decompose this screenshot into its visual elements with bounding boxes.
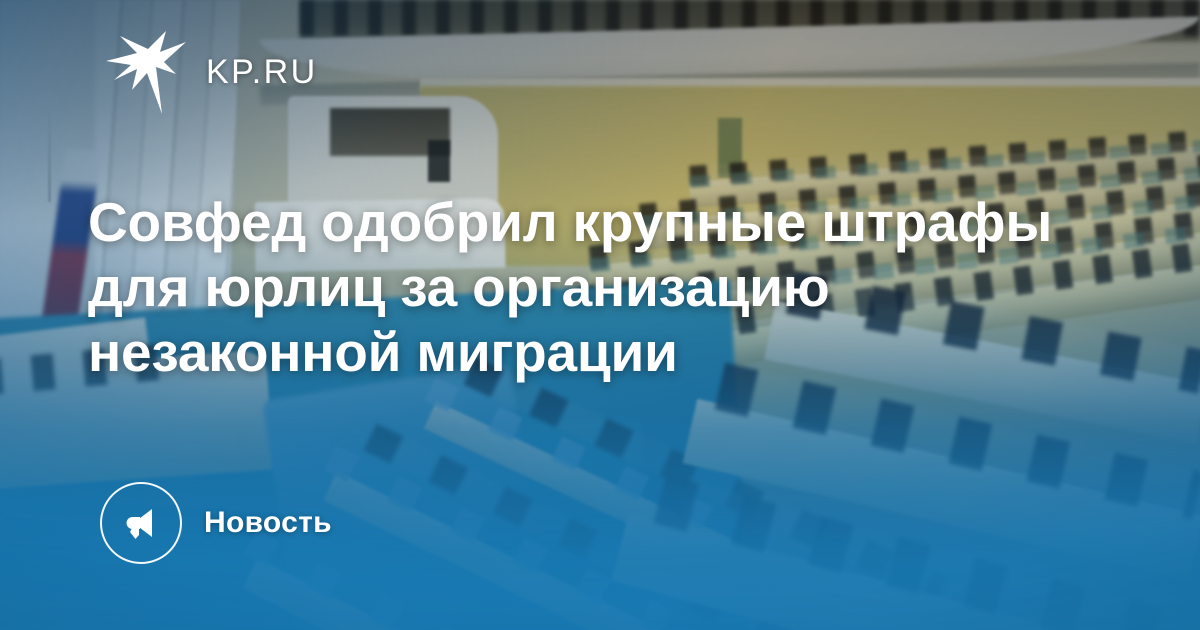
megaphone-icon [119, 501, 163, 545]
badge-circle [100, 482, 182, 564]
status-badge-label: Новость [204, 508, 332, 538]
status-badge[interactable]: Новость [100, 482, 332, 564]
news-share-card: KP.RU Совфед одобрил крупные штрафы для … [0, 0, 1200, 630]
headline-line-3: незаконной миграции [88, 320, 1098, 385]
brand-lockup[interactable]: KP.RU [104, 28, 318, 116]
card-content: KP.RU Совфед одобрил крупные штрафы для … [0, 0, 1200, 630]
swallow-bird-icon [104, 28, 188, 116]
page-title: Совфед одобрил крупные штрафы для юрлиц … [88, 190, 1098, 385]
brand-name: KP.RU [206, 55, 318, 89]
headline-line-2: для юрлиц за организацию [88, 255, 1098, 320]
headline-line-1: Совфед одобрил крупные штрафы [88, 190, 1098, 255]
